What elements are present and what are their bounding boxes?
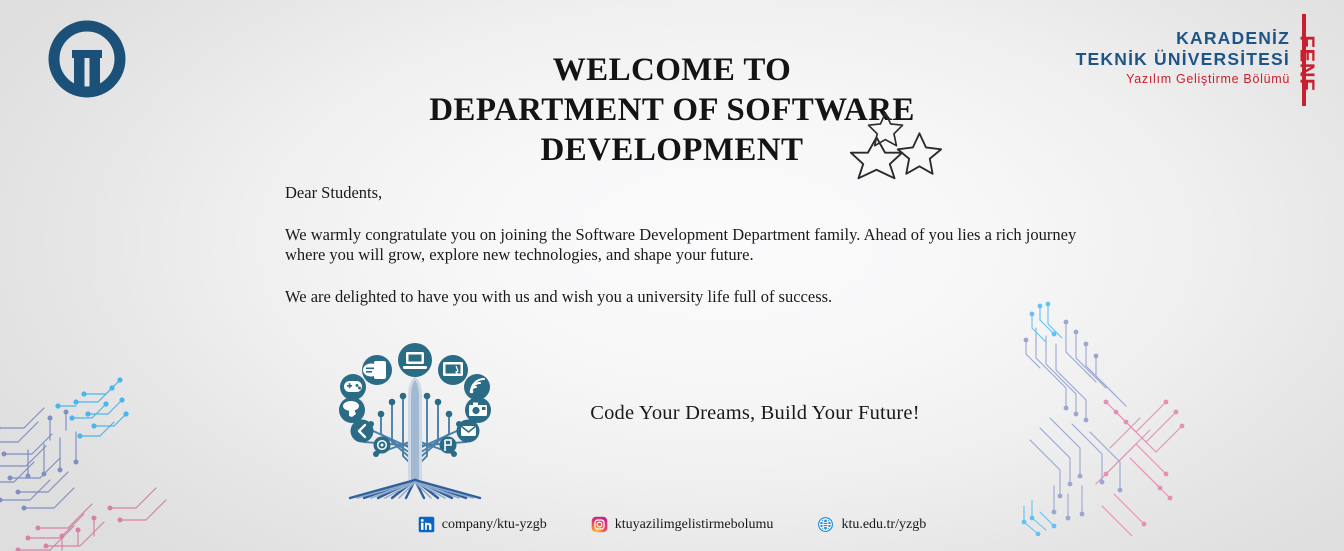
salutation-text: Dear Students, xyxy=(285,183,1085,204)
body-paragraph-1: We warmly congratulate you on joining th… xyxy=(285,225,1085,266)
social-link-instagram[interactable]: ktuyazilimgelistirmebolumu xyxy=(591,516,774,533)
social-link-label: ktuyazilimgelistirmebolumu xyxy=(615,517,774,533)
ktu-ring-logo-icon xyxy=(45,19,129,103)
title-line-1: WELCOME TO xyxy=(330,50,1014,90)
circuit-board-pattern-icon-right xyxy=(1010,298,1190,536)
welcome-poster: KARADENİZ TEKNİK ÜNİVERSİTESİ Yazılım Ge… xyxy=(0,0,1344,551)
social-link-linkedin[interactable]: company/ktu-yzgb xyxy=(418,516,547,533)
letter-body: Dear Students, We warmly congratulate yo… xyxy=(285,183,1085,307)
university-name-line1: KARADENİZ xyxy=(1076,30,1290,48)
social-link-label: ktu.edu.tr/yzgb xyxy=(841,517,926,533)
department-name-tr: Yazılım Geliştirme Bölümü xyxy=(1076,73,1290,86)
globe-icon xyxy=(817,516,834,533)
linkedin-icon xyxy=(418,516,435,533)
three-outline-stars-icon xyxy=(848,108,948,186)
body-paragraph-2: We are delighted to have you with us and… xyxy=(285,287,1085,308)
social-link-website[interactable]: ktu.edu.tr/yzgb xyxy=(817,516,926,533)
social-links-footer: company/ktu-yzgb ktuyazilimg xyxy=(0,516,1344,533)
instagram-icon xyxy=(591,516,608,533)
faculty-code-label: FENF xyxy=(1295,18,1318,110)
technology-tree-illustration-icon xyxy=(330,330,500,500)
ktu-wordmark: KARADENİZ TEKNİK ÜNİVERSİTESİ Yazılım Ge… xyxy=(1076,30,1290,86)
social-link-label: company/ktu-yzgb xyxy=(442,517,547,533)
tagline-text: Code Your Dreams, Build Your Future! xyxy=(530,402,980,425)
university-name-line2: TEKNİK ÜNİVERSİTESİ xyxy=(1076,51,1290,69)
